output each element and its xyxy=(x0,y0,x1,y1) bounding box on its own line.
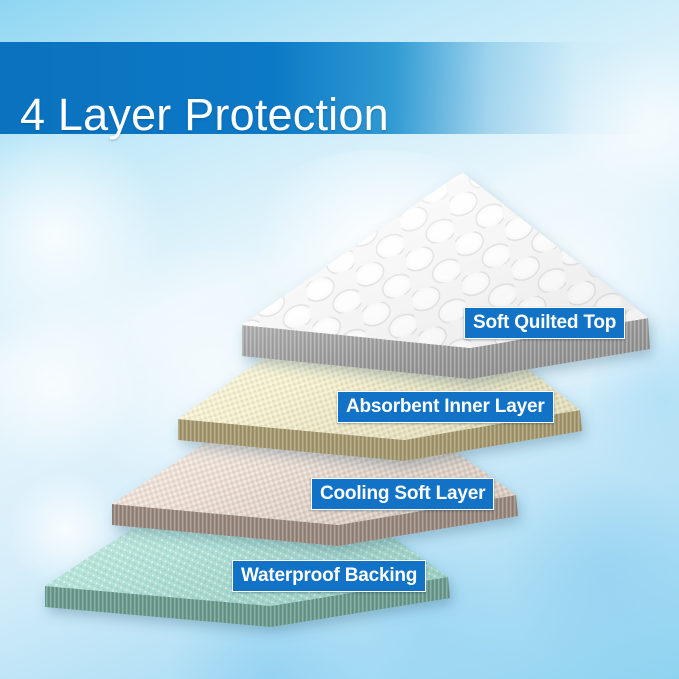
page-title: 4 Layer Protection xyxy=(20,92,389,137)
title-banner: 4 Layer Protection xyxy=(0,42,679,134)
infographic-canvas: Waterproof Backing Cooling Soft Layer xyxy=(0,0,679,679)
layer-label-soft-quilted-top: Soft Quilted Top xyxy=(464,307,625,339)
